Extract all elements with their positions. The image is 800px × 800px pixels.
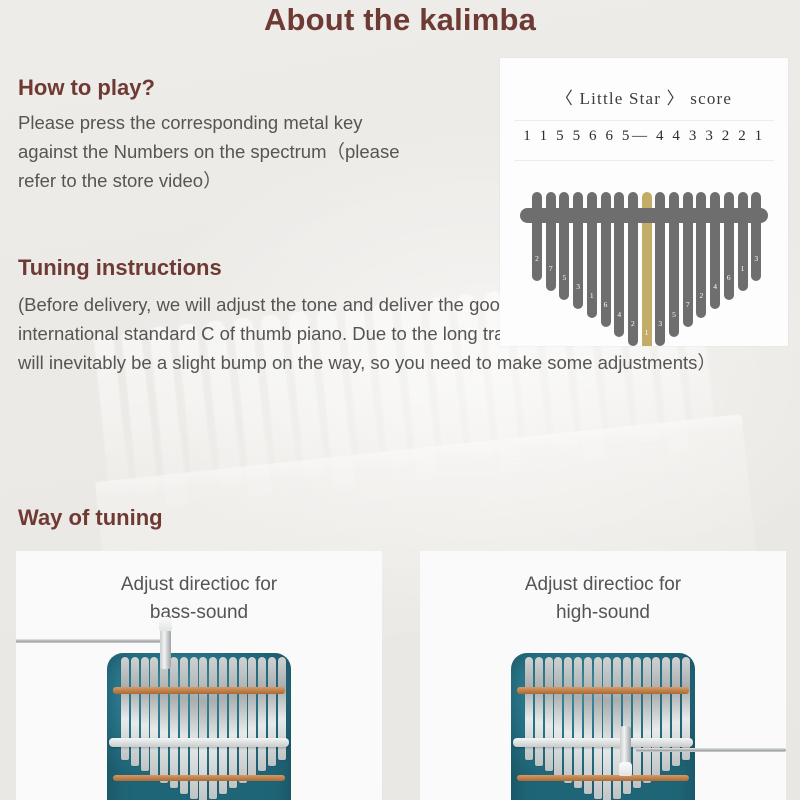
page-title: About the kalimba xyxy=(0,2,800,38)
kalimba-copper-bar-upper xyxy=(517,687,689,694)
kalimba-photo-tine-12 xyxy=(229,657,237,788)
panel-high-caption-line1: Adjust directioc for xyxy=(525,574,681,595)
panel-adjust-high-sound: Adjust directioc for high-sound xyxy=(420,551,786,800)
kalimba-photo-tine-7 xyxy=(584,657,592,794)
panel-adjust-bass-sound: Adjust directioc for bass-sound xyxy=(16,551,382,800)
kalimba-copper-bar-upper xyxy=(113,687,285,694)
score-divider-top xyxy=(514,120,774,121)
tuning-hammer-high xyxy=(608,726,786,786)
kalimba-key-number: 4 xyxy=(710,283,720,291)
text-how-to-play: Please press the corresponding metal key… xyxy=(18,108,418,195)
kalimba-diagram-bridge xyxy=(520,208,768,223)
kalimba-key-16: 1 xyxy=(738,192,748,291)
kalimba-key-number: 5 xyxy=(559,274,569,282)
kalimba-key-number: 5 xyxy=(669,311,679,319)
kalimba-photo-tine-2 xyxy=(535,657,543,766)
tuning-hammer-bass xyxy=(16,611,190,681)
kalimba-photo-tine-4 xyxy=(554,657,562,777)
heading-way-of-tuning: Way of tuning xyxy=(18,505,163,531)
kalimba-key-number: 1 xyxy=(587,292,597,300)
kalimba-photo-tine-14 xyxy=(248,657,256,777)
kalimba-key-number: 2 xyxy=(628,320,638,328)
heading-tuning-instructions: Tuning instructions xyxy=(18,255,222,281)
score-divider-bottom xyxy=(514,160,774,161)
little-star-score-card: 〈 Little Star 〉 score 1 1 5 5 6 6 5— 4 4… xyxy=(500,58,788,346)
heading-how-to-play: How to play? xyxy=(18,75,155,101)
panel-bass-caption-line1: Adjust directioc for xyxy=(121,574,277,595)
hammer-tip xyxy=(159,617,172,631)
panel-high-caption: Adjust directioc for high-sound xyxy=(420,571,786,627)
hammer-shaft xyxy=(16,639,168,643)
panel-high-caption-line2: high-sound xyxy=(556,602,650,623)
hammer-head xyxy=(160,629,171,669)
kalimba-photo-tine-5 xyxy=(564,657,572,783)
kalimba-key-number: 3 xyxy=(751,255,761,263)
hammer-tip xyxy=(619,762,632,776)
kalimba-key-number: 3 xyxy=(573,283,583,291)
hammer-shaft xyxy=(636,748,786,752)
kalimba-key-number: 6 xyxy=(724,274,734,282)
score-note-numbers: 1 1 5 5 6 6 5— 4 4 3 3 2 2 1 xyxy=(500,128,788,145)
kalimba-photo-tine-15 xyxy=(258,657,266,771)
kalimba-key-2: 7 xyxy=(546,192,556,291)
kalimba-photo-tine-6 xyxy=(574,657,582,788)
kalimba-key-diagram: 27531642135724613 xyxy=(528,180,760,346)
kalimba-key-number: 1 xyxy=(738,265,748,273)
kalimba-key-number: 7 xyxy=(546,265,556,273)
kalimba-key-number: 2 xyxy=(532,255,542,263)
kalimba-key-number: 4 xyxy=(614,311,624,319)
kalimba-key-number: 3 xyxy=(655,320,665,328)
page-root: About the kalimba How to play? Please pr… xyxy=(0,0,800,800)
score-card-title: 〈 Little Star 〉 score xyxy=(500,84,788,109)
kalimba-photo-tine-16 xyxy=(268,657,276,766)
hammer-head xyxy=(620,726,631,766)
kalimba-key-17: 3 xyxy=(751,192,761,281)
kalimba-copper-bar-lower xyxy=(113,775,285,781)
kalimba-key-number: 6 xyxy=(601,301,611,309)
kalimba-photo-tine-11 xyxy=(219,657,227,794)
kalimba-key-1: 2 xyxy=(532,192,542,281)
kalimba-key-number: 2 xyxy=(696,292,706,300)
kalimba-key-number: 7 xyxy=(683,301,693,309)
kalimba-white-bar xyxy=(109,738,289,747)
kalimba-photo-tine-13 xyxy=(239,657,247,783)
kalimba-photo-tine-3 xyxy=(545,657,553,771)
kalimba-key-number: 1 xyxy=(642,329,652,337)
